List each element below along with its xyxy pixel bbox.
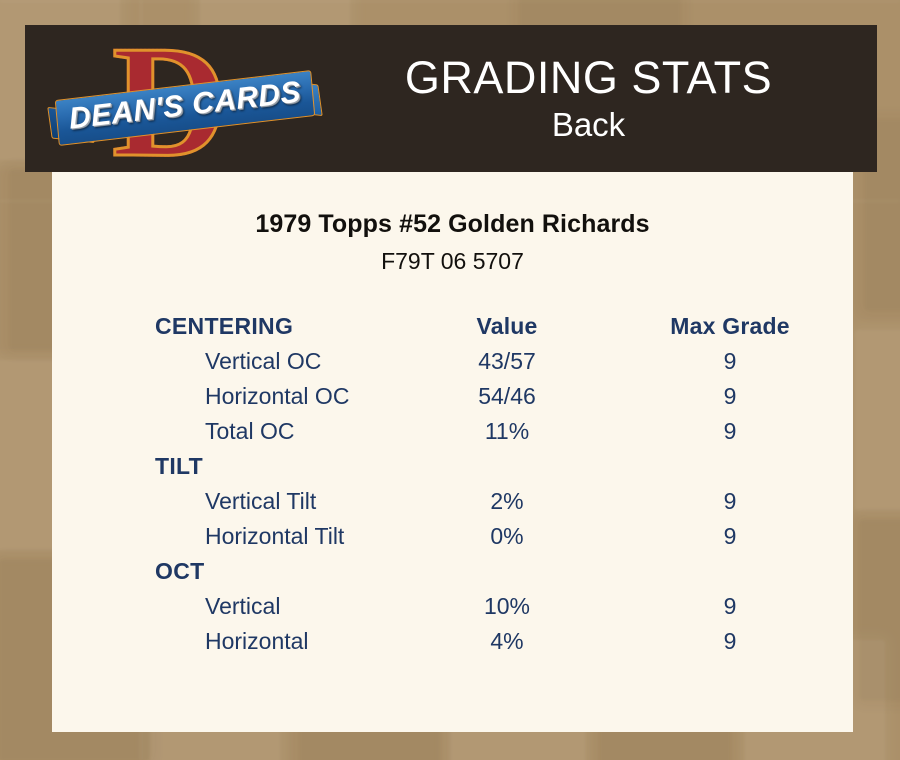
- logo-ribbon: DEAN'S CARDS: [50, 82, 318, 138]
- row-max-grade: 9: [607, 624, 853, 659]
- row-max-grade: 9: [607, 484, 853, 519]
- section-header-oct: OCT: [52, 554, 407, 589]
- row-label: Vertical: [52, 589, 407, 624]
- row-max-grade: 9: [607, 344, 853, 379]
- section-spacer-value: [407, 449, 607, 484]
- section-spacer-grade: [607, 449, 853, 484]
- table-section-row: TILT: [52, 449, 853, 484]
- section-spacer-grade: [607, 554, 853, 589]
- column-header-max-grade: Max Grade: [607, 309, 853, 344]
- grading-stats-table: CENTERING Value Max Grade Vertical OC 43…: [52, 309, 853, 659]
- table-row: Horizontal OC 54/46 9: [52, 379, 853, 414]
- row-label: Horizontal Tilt: [52, 519, 407, 554]
- table-head: CENTERING Value Max Grade: [52, 309, 853, 344]
- row-max-grade: 9: [607, 414, 853, 449]
- row-max-grade: 9: [607, 519, 853, 554]
- row-value: 0%: [407, 519, 607, 554]
- table-row: Vertical Tilt 2% 9: [52, 484, 853, 519]
- row-value: 43/57: [407, 344, 607, 379]
- row-label: Horizontal OC: [52, 379, 407, 414]
- row-label: Horizontal: [52, 624, 407, 659]
- row-label: Vertical Tilt: [52, 484, 407, 519]
- content-panel: 1979 Topps #52 Golden Richards F79T 06 5…: [52, 172, 853, 732]
- row-max-grade: 9: [607, 589, 853, 624]
- row-label: Total OC: [52, 414, 407, 449]
- table-row: Horizontal 4% 9: [52, 624, 853, 659]
- section-spacer-value: [407, 554, 607, 589]
- table-row: Vertical 10% 9: [52, 589, 853, 624]
- section-header-tilt: TILT: [52, 449, 407, 484]
- header-title-block: GRADING STATS Back: [300, 25, 877, 172]
- table-section-row: OCT: [52, 554, 853, 589]
- row-label: Vertical OC: [52, 344, 407, 379]
- row-value: 4%: [407, 624, 607, 659]
- card-serial-number: F79T 06 5707: [52, 239, 853, 275]
- row-value: 54/46: [407, 379, 607, 414]
- table-row: Horizontal Tilt 0% 9: [52, 519, 853, 554]
- table-row: Total OC 11% 9: [52, 414, 853, 449]
- table-row: Vertical OC 43/57 9: [52, 344, 853, 379]
- table-header-row: CENTERING Value Max Grade: [52, 309, 853, 344]
- column-header-value: Value: [407, 309, 607, 344]
- row-value: 11%: [407, 414, 607, 449]
- page-subtitle: Back: [552, 105, 625, 145]
- row-max-grade: 9: [607, 379, 853, 414]
- table-body: Vertical OC 43/57 9 Horizontal OC 54/46 …: [52, 344, 853, 659]
- page-title: GRADING STATS: [405, 52, 772, 104]
- section-header-centering: CENTERING: [52, 309, 407, 344]
- deans-cards-logo[interactable]: D DEAN'S CARDS: [50, 30, 320, 172]
- row-value: 2%: [407, 484, 607, 519]
- row-value: 10%: [407, 589, 607, 624]
